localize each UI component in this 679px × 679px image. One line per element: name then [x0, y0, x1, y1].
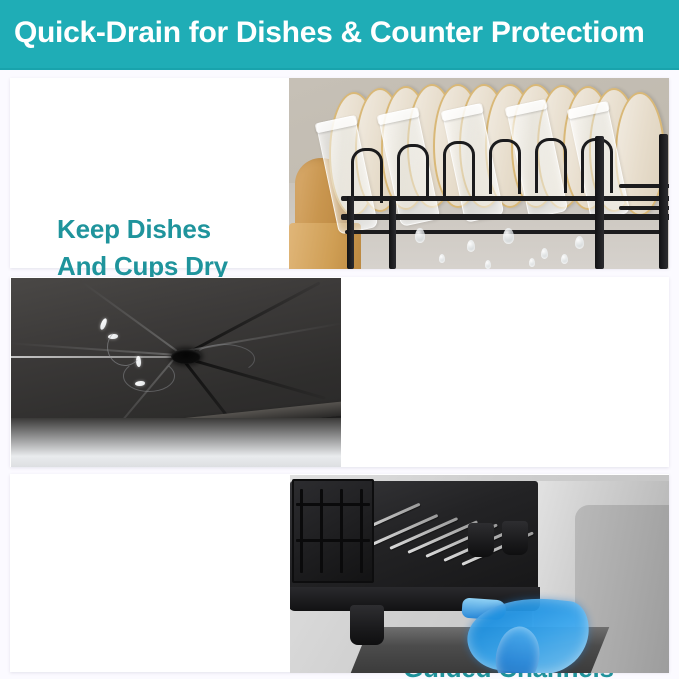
rack-leg-post — [595, 136, 604, 269]
water-droplet — [415, 228, 425, 243]
product-infographic: Quick-Drain for Dishes & Counter Protect… — [0, 0, 679, 679]
water-droplet — [541, 248, 548, 259]
water-droplet — [485, 260, 491, 269]
water-droplet — [561, 254, 568, 264]
tray-surface-seam — [11, 356, 191, 358]
rack-foot — [468, 523, 494, 557]
water-droplet — [439, 254, 445, 263]
countertop-surface — [11, 418, 341, 467]
rack-arch-divider — [535, 138, 567, 193]
drain-tray-channels-photo — [11, 278, 341, 467]
water-droplet — [467, 240, 475, 252]
rack-leg-post — [659, 134, 668, 269]
water-droplet — [575, 236, 584, 249]
water-trail — [123, 360, 175, 392]
extended-spout-into-sink-photo — [290, 475, 669, 673]
feature-caption-keep-dishes-dry: Keep Dishes And Cups Dry — [57, 211, 292, 285]
basket-wire — [320, 489, 323, 573]
rack-arch-divider — [443, 141, 475, 196]
water-droplet — [503, 228, 514, 244]
rack-arch-divider — [351, 148, 383, 203]
basket-wire — [296, 539, 370, 542]
water-trail — [193, 344, 255, 374]
dish-rack-with-plates-and-cups-photo — [289, 78, 669, 269]
rack-leg-post — [389, 200, 396, 269]
utensil-basket — [292, 479, 374, 583]
rack-foot — [502, 521, 528, 555]
page-title: Quick-Drain for Dishes & Counter Protect… — [14, 12, 669, 54]
basket-wire — [360, 489, 363, 573]
water-trail — [107, 328, 143, 366]
rack-arch-divider — [397, 144, 429, 199]
basket-wire — [340, 489, 343, 573]
basket-wire — [300, 489, 303, 573]
rack-leg-post — [347, 196, 354, 269]
water-droplet — [529, 258, 535, 267]
header-banner: Quick-Drain for Dishes & Counter Protect… — [0, 0, 679, 70]
basket-wire — [296, 503, 370, 506]
rack-foot — [350, 605, 384, 645]
rack-arch-divider — [489, 139, 521, 194]
